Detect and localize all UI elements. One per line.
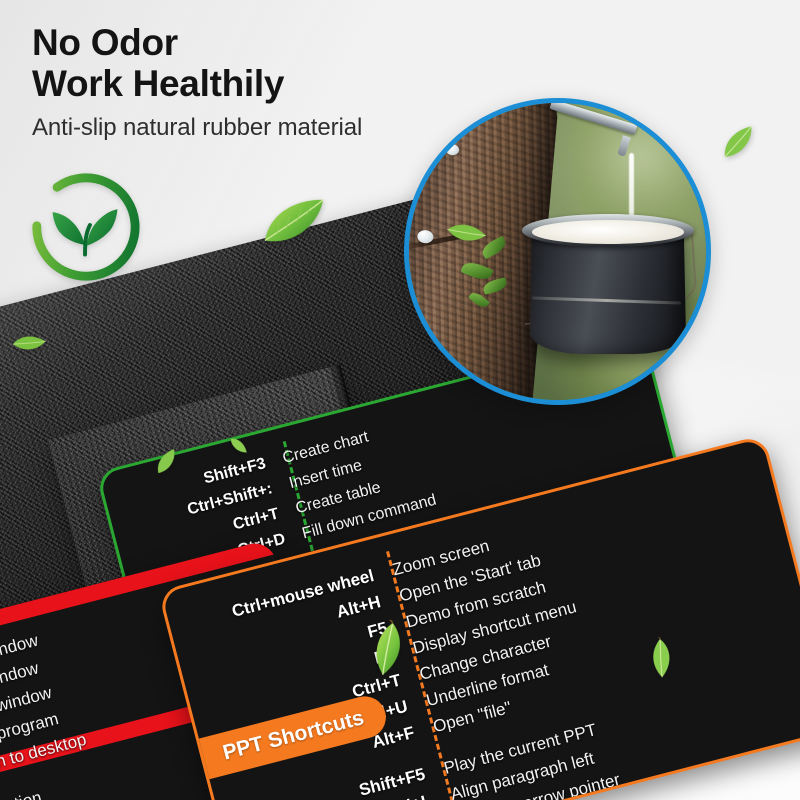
latex-liquid	[532, 220, 683, 244]
headline-line-1: No Odor	[32, 22, 362, 63]
headline-subtitle: Anti-slip natural rubber material	[32, 114, 362, 142]
headline-line-2: Work Healthily	[32, 63, 362, 104]
shortcut-rows-windows: Alt+Tab Switch window Ctrl+W Close windo…	[0, 625, 113, 800]
headline-block: No Odor Work Healthily Anti-slip natural…	[32, 22, 362, 142]
shortcut-row: Win+P Projection	[0, 773, 100, 800]
shortcut-action: Projection	[0, 788, 44, 800]
leaf-card-corner	[646, 636, 678, 681]
eco-badge	[27, 168, 145, 286]
leaf-ppt-title	[362, 617, 416, 681]
rubber-tapping-photo	[404, 98, 711, 405]
product-marketing-image: Shift+F3 Create chart Ctrl+Shift+: Inser…	[0, 0, 800, 800]
leaf-sprout-eco-icon	[27, 168, 145, 286]
